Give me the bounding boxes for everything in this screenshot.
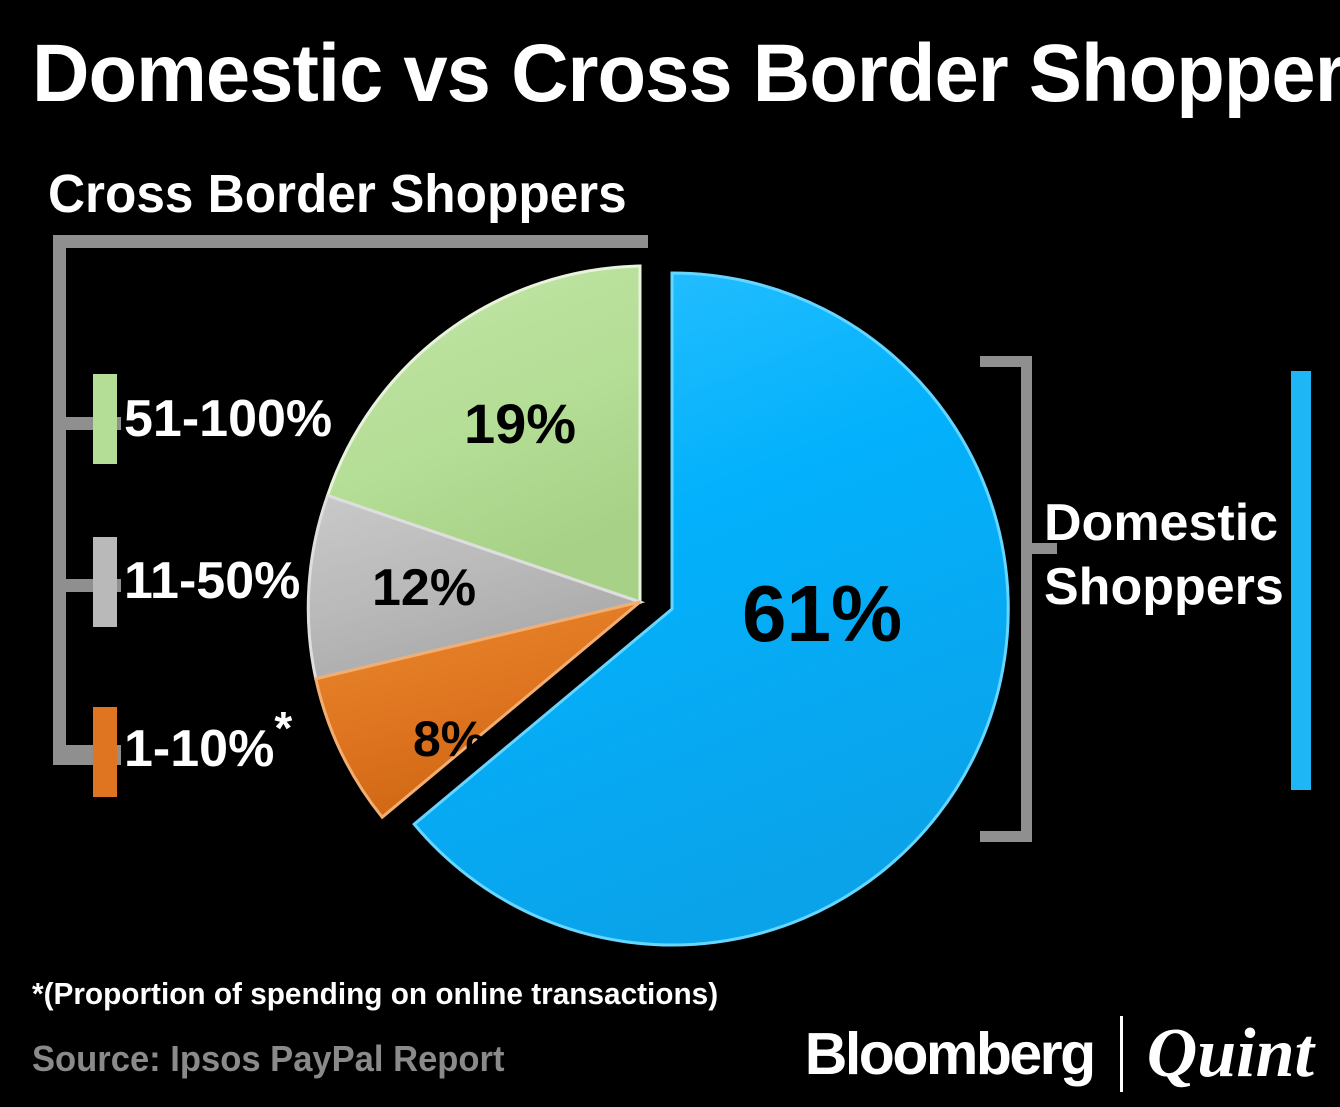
legend-label-text: 11-50% [124, 552, 300, 610]
slice-value-1-10: 8% [413, 714, 485, 764]
bloomberg-quint-logo: Bloomberg Quint [805, 1020, 1314, 1088]
page-title: Domestic vs Cross Border Shoppers [32, 28, 1283, 120]
cross-border-heading: Cross Border Shoppers [48, 163, 627, 225]
footnote-text: *(Proportion of spending on online trans… [32, 975, 718, 1013]
quint-wordmark: Quint [1147, 1018, 1314, 1090]
bloomberg-wordmark: Bloomberg [805, 1023, 1094, 1085]
legend-chip-1-10 [93, 707, 117, 797]
domestic-color-bar [1291, 371, 1311, 790]
legend-label-text: 1-10% [124, 720, 274, 778]
source-text: Source: Ipsos PayPal Report [32, 1037, 504, 1081]
domestic-shoppers-label: Domestic Shoppers [1044, 491, 1284, 619]
right-bracket-bottom-arm [980, 831, 1032, 842]
right-bracket-spine [1021, 356, 1032, 842]
right-bracket-top-arm [980, 356, 1032, 367]
legend-label-11-50: 11-50% [124, 554, 300, 608]
legend-chip-11-50 [93, 537, 117, 627]
infographic-canvas: Domestic vs Cross Border Shoppers Cross … [0, 0, 1340, 1107]
legend-chip-51-100 [93, 374, 117, 464]
logo-divider [1120, 1016, 1123, 1092]
legend-label-1-10: 1-10%* [124, 722, 292, 776]
slice-value-51-100: 19% [464, 396, 576, 452]
left-bracket-top-arm [53, 235, 648, 248]
slice-value-11-50: 12% [372, 562, 476, 614]
left-bracket-spine [53, 235, 66, 765]
slice-value-domestic: 61% [742, 574, 902, 654]
